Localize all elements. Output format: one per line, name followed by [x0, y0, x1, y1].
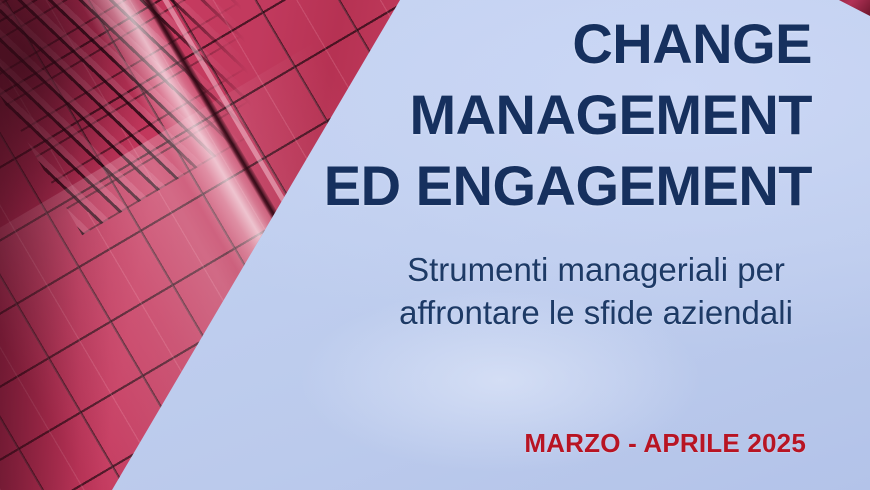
page-subtitle: Strumenti manageriali per affrontare le … — [386, 248, 806, 334]
poster-text-block: CHANGE MANAGEMENT ED ENGAGEMENT Strument… — [252, 0, 812, 490]
promo-poster: CHANGE MANAGEMENT ED ENGAGEMENT Strument… — [0, 0, 870, 490]
subtitle-line-2: affrontare le sfide aziendali — [386, 291, 806, 334]
event-date-label: MARZO - APRILE 2025 — [246, 428, 806, 459]
title-line-3: ED ENGAGEMENT — [252, 150, 812, 221]
page-title: CHANGE MANAGEMENT ED ENGAGEMENT — [252, 8, 812, 221]
title-line-1: CHANGE — [252, 8, 812, 79]
title-line-2: MANAGEMENT — [252, 79, 812, 150]
subtitle-line-1: Strumenti manageriali per — [386, 248, 806, 291]
